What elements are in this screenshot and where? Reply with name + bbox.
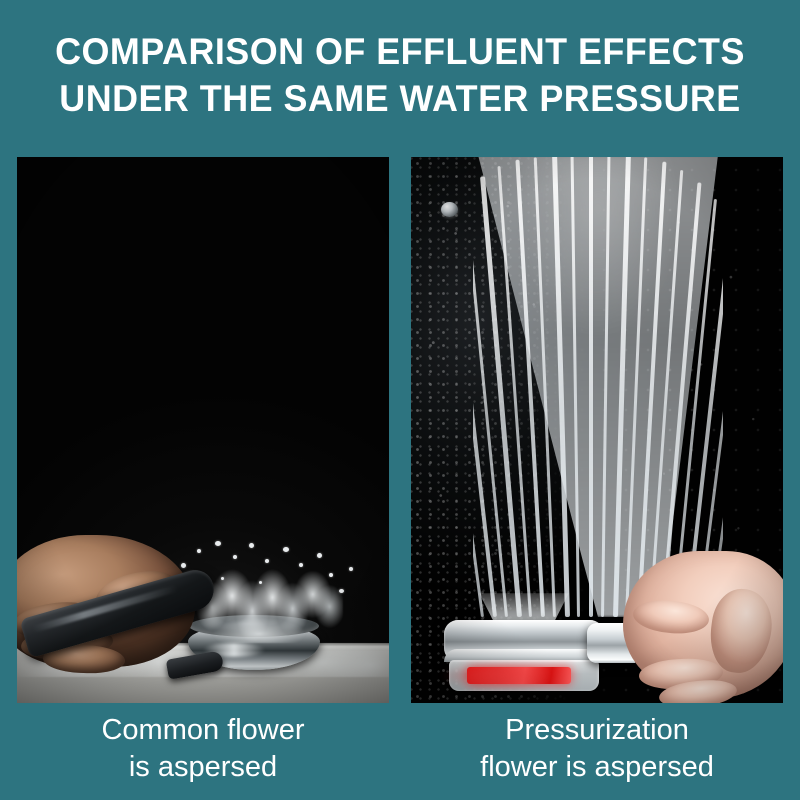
comparison-panel-pressurization [411,157,783,703]
comparison-panel-common [17,157,389,703]
caption-common: Common flower is aspersed [17,712,389,786]
led-glow [441,663,551,689]
title-line-1: COMPARISON OF EFFLUENT EFFECTS [12,28,788,75]
page-title: COMPARISON OF EFFLUENT EFFECTS UNDER THE… [0,28,800,122]
title-line-2: UNDER THE SAME WATER PRESSURE [12,75,788,122]
caption-pressurization-line-2: flower is aspersed [411,749,783,786]
spray-haze [493,157,703,455]
caption-common-line-1: Common flower [17,712,389,749]
product-comparison-poster: COMPARISON OF EFFLUENT EFFECTS UNDER THE… [0,0,800,800]
caption-pressurization-line-1: Pressurization [411,712,783,749]
pressurized-water-spray [473,157,723,617]
large-water-droplet [441,202,458,217]
caption-common-line-2: is aspersed [17,749,389,786]
caption-pressurization: Pressurization flower is aspersed [411,712,783,786]
